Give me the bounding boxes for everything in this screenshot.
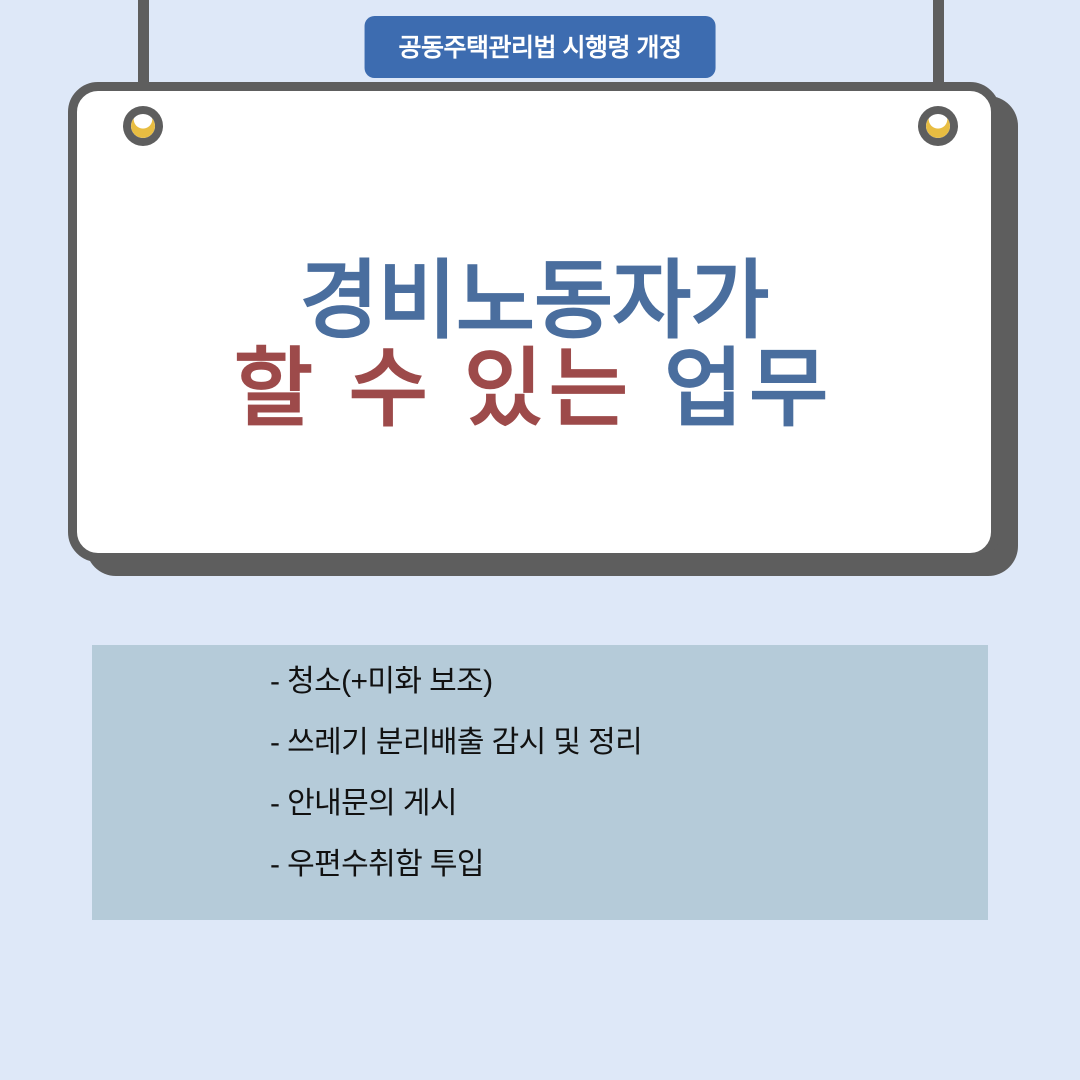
headline-line-1: 경비노동자가 bbox=[234, 258, 834, 346]
infographic-canvas: 경비노동자가 할 수 있는 업무 공동주택관리법 시행령 개정 - 청소(+미화… bbox=[0, 0, 1080, 1080]
headline: 경비노동자가 할 수 있는 업무 bbox=[234, 258, 834, 433]
duty-list-item: - 청소(+미화 보조) bbox=[270, 667, 988, 697]
headline-segment-subject: 업무 bbox=[634, 341, 834, 437]
duty-list-item: - 우편수취함 투입 bbox=[270, 850, 988, 880]
hanging-ring-left-accent-icon bbox=[131, 114, 155, 138]
headline-segment-emphasis: 할 수 있는 bbox=[234, 341, 634, 437]
duty-list-item: - 안내문의 게시 bbox=[270, 789, 988, 819]
headline-line-2: 할 수 있는 업무 bbox=[234, 346, 834, 434]
duty-list-item: - 쓰레기 분리배출 감시 및 정리 bbox=[270, 728, 988, 758]
duties-panel: - 청소(+미화 보조) - 쓰레기 분리배출 감시 및 정리 - 안내문의 게… bbox=[92, 645, 988, 920]
signboard: 경비노동자가 할 수 있는 업무 bbox=[68, 82, 1000, 562]
hanging-ring-right-accent-icon bbox=[926, 114, 950, 138]
category-badge: 공동주택관리법 시행령 개정 bbox=[365, 16, 716, 78]
